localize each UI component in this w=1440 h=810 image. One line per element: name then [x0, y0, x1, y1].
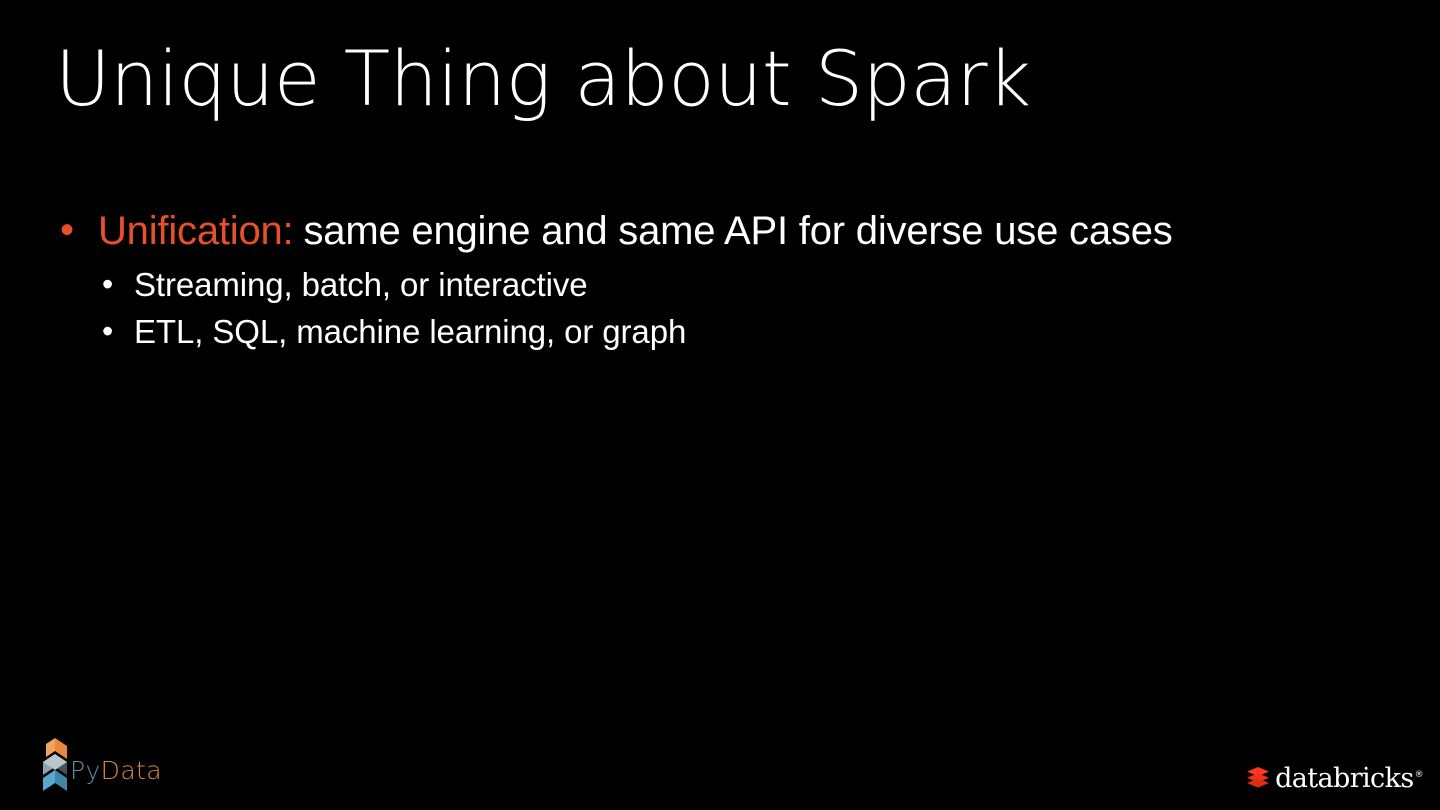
pydata-mark-icon	[38, 737, 72, 795]
bullet-level2: • ETL, SQL, machine learning, or graph	[102, 313, 1390, 352]
bullet-level2-text: ETL, SQL, machine learning, or graph	[134, 313, 1390, 352]
pydata-word-py: Py	[70, 756, 101, 785]
databricks-wordmark: databricks®	[1275, 765, 1422, 792]
bullet-accent-label: Unification:	[98, 209, 293, 253]
content-body: • Unification:same engine and same API f…	[60, 208, 1390, 360]
slide-canvas: Unique Thing about Spark • Unification:s…	[0, 0, 1440, 810]
databricks-trademark: ®	[1415, 770, 1423, 780]
page-title: Unique Thing about Spark	[55, 38, 1385, 120]
bullet-dot-icon: •	[60, 210, 98, 250]
databricks-logo: databricks®	[1245, 760, 1422, 794]
bullet-level1-rest: same engine and same API for diverse use…	[303, 209, 1172, 253]
bullet-level2-text: Streaming, batch, or interactive	[134, 266, 1390, 305]
bullet-level1: • Unification:same engine and same API f…	[60, 208, 1390, 254]
sub-bullet-dot-icon: •	[102, 315, 134, 347]
databricks-word-text: databricks	[1275, 763, 1414, 794]
pydata-wordmark: PyData	[70, 758, 162, 783]
pydata-logo: PyData	[38, 737, 150, 795]
pydata-word-data: Data	[101, 756, 162, 785]
bullet-level2: • Streaming, batch, or interactive	[102, 266, 1390, 305]
bullet-level1-text: Unification:same engine and same API for…	[98, 208, 1390, 254]
databricks-bricks-icon	[1245, 764, 1271, 790]
sub-bullet-dot-icon: •	[102, 268, 134, 300]
